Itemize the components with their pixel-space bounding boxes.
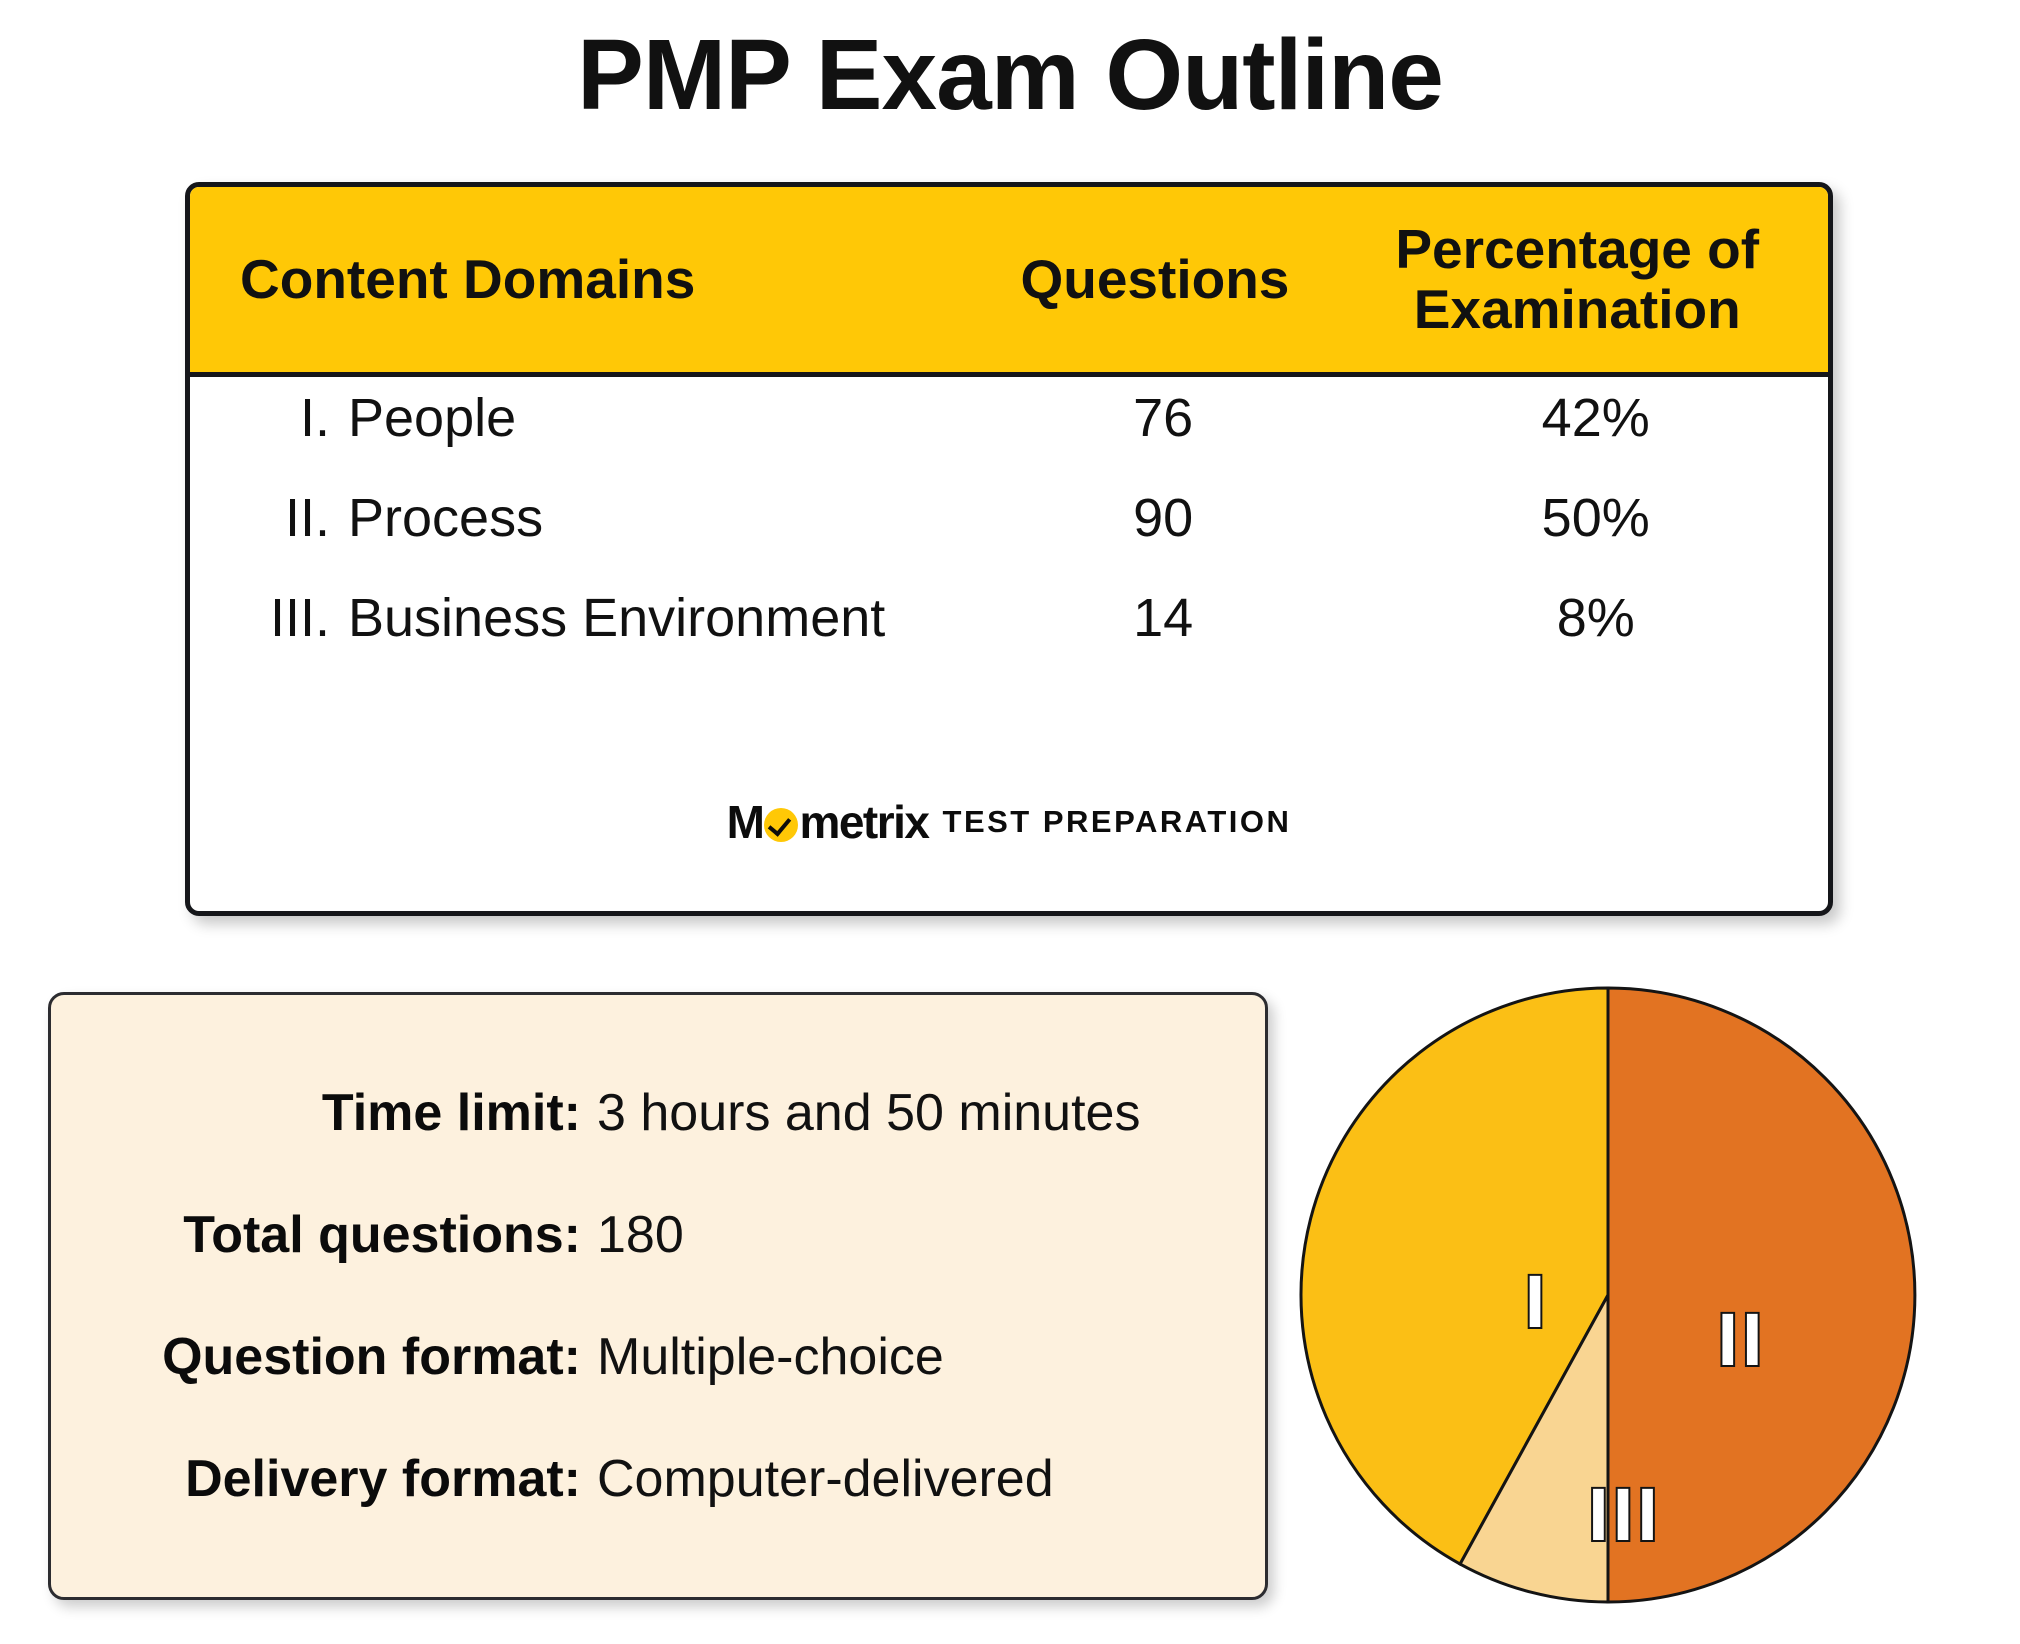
table-header-percentage-line-1: Percentage of bbox=[1350, 220, 1804, 279]
table-cell-percent: 50% bbox=[1363, 491, 1828, 545]
table-row: I. People 76 42% bbox=[190, 391, 1828, 491]
table-cell-percent: 42% bbox=[1363, 391, 1828, 445]
info-value-question-format: Multiple-choice bbox=[597, 1327, 944, 1387]
table-header-content-domains: Content Domains bbox=[190, 250, 959, 309]
exam-details-card: Time limit: 3 hours and 50 minutes Total… bbox=[48, 992, 1268, 1600]
info-value-time-limit: 3 hours and 50 minutes bbox=[597, 1083, 1140, 1143]
info-value-total-questions: 180 bbox=[597, 1205, 684, 1265]
info-row-delivery-format: Delivery format: Computer-delivered bbox=[51, 1449, 1203, 1509]
table-cell-domain: III. Business Environment bbox=[190, 591, 963, 645]
mometrix-logo: M metrix TEST PREPARATION bbox=[190, 795, 1828, 849]
table-cell-questions: 90 bbox=[963, 491, 1364, 545]
table-cell-questions: 76 bbox=[963, 391, 1364, 445]
table-cell-domain-label: Process bbox=[348, 491, 543, 545]
exam-outline-table-card: Content Domains Questions Percentage of … bbox=[185, 182, 1833, 916]
pie-label-III: III bbox=[1588, 1473, 1662, 1556]
table-cell-domain: I. People bbox=[190, 391, 963, 445]
mometrix-tagline: TEST PREPARATION bbox=[943, 804, 1292, 840]
exam-domain-pie-chart: IIIIII bbox=[1295, 982, 1921, 1608]
table-cell-numeral: I. bbox=[226, 391, 348, 445]
pie-label-I: I bbox=[1525, 1260, 1550, 1343]
info-row-time-limit: Time limit: 3 hours and 50 minutes bbox=[51, 1083, 1203, 1143]
table-row: III. Business Environment 14 8% bbox=[190, 591, 1828, 691]
table-cell-domain: II. Process bbox=[190, 491, 963, 545]
info-row-question-format: Question format: Multiple-choice bbox=[51, 1327, 1203, 1387]
table-row: II. Process 90 50% bbox=[190, 491, 1828, 591]
mometrix-word-suffix: metrix bbox=[799, 795, 928, 849]
table-cell-questions: 14 bbox=[963, 591, 1364, 645]
table-cell-numeral: II. bbox=[226, 491, 348, 545]
mometrix-wordmark: M metrix bbox=[727, 795, 929, 849]
table-cell-domain-label: People bbox=[348, 391, 516, 445]
pie-label-II: II bbox=[1717, 1298, 1766, 1381]
table-header-percentage-line-2: Examination bbox=[1350, 280, 1804, 339]
table-header-questions: Questions bbox=[959, 250, 1350, 309]
info-label-time-limit: Time limit: bbox=[51, 1083, 597, 1143]
info-label-delivery-format: Delivery format: bbox=[51, 1449, 597, 1509]
table-cell-domain-label: Business Environment bbox=[348, 591, 885, 645]
mometrix-word-prefix: M bbox=[727, 795, 764, 849]
page-title: PMP Exam Outline bbox=[0, 18, 2020, 133]
table-cell-numeral: III. bbox=[226, 591, 348, 645]
info-row-total-questions: Total questions: 180 bbox=[51, 1205, 1203, 1265]
pie-chart-svg: IIIIII bbox=[1295, 982, 1921, 1608]
info-label-question-format: Question format: bbox=[51, 1327, 597, 1387]
info-label-total-questions: Total questions: bbox=[51, 1205, 597, 1265]
checkmark-circle-icon bbox=[764, 808, 798, 842]
table-cell-percent: 8% bbox=[1363, 591, 1828, 645]
table-header-percentage-of-examination: Percentage of Examination bbox=[1350, 220, 1828, 339]
table-body: I. People 76 42% II. Process 90 50% III.… bbox=[190, 377, 1828, 691]
info-value-delivery-format: Computer-delivered bbox=[597, 1449, 1054, 1509]
table-header-row: Content Domains Questions Percentage of … bbox=[190, 187, 1828, 377]
